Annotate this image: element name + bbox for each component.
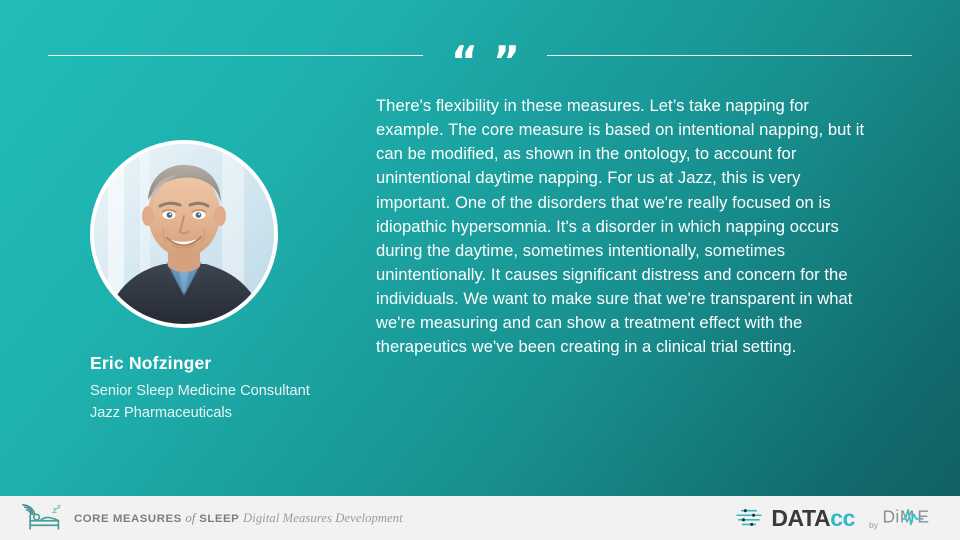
datacc-logo: DATAcc bbox=[734, 507, 855, 530]
avatar bbox=[90, 140, 278, 328]
brand-connector: of bbox=[186, 511, 196, 525]
speaker-role: Senior Sleep Medicine Consultant Jazz Ph… bbox=[90, 380, 365, 424]
sleep-bed-icon bbox=[22, 504, 62, 532]
footer-brand-right: DATAcc by D i M E bbox=[734, 506, 938, 530]
footer-bar: CORE MEASURES of SLEEP Digital Measures … bbox=[0, 496, 960, 540]
svg-text:E: E bbox=[917, 507, 928, 527]
datacc-cc: cc bbox=[830, 505, 855, 531]
speaker-role-line2: Jazz Pharmaceuticals bbox=[90, 402, 365, 424]
svg-text:D: D bbox=[883, 507, 895, 527]
footer-brand-text: CORE MEASURES of SLEEP Digital Measures … bbox=[74, 511, 403, 526]
svg-text:i: i bbox=[895, 507, 898, 527]
quote-text: There's flexibility in these measures. L… bbox=[376, 94, 872, 360]
speaker-name: Eric Nofzinger bbox=[90, 353, 365, 375]
quote-close-icon: ” bbox=[493, 41, 519, 82]
footer-tagline: Digital Measures Development bbox=[243, 511, 403, 525]
datacc-lines-icon bbox=[734, 507, 764, 529]
speaker-role-line1: Senior Sleep Medicine Consultant bbox=[90, 380, 365, 402]
speaker-block: Eric Nofzinger Senior Sleep Medicine Con… bbox=[90, 140, 365, 424]
footer-brand-left: CORE MEASURES of SLEEP Digital Measures … bbox=[22, 504, 403, 532]
dime-by-label: by bbox=[869, 520, 878, 530]
brand-core-measures: CORE MEASURES bbox=[74, 513, 182, 525]
portrait-photo bbox=[94, 144, 274, 324]
brand-sleep: SLEEP bbox=[199, 513, 239, 525]
dime-wordmark-icon: D i M E bbox=[882, 506, 938, 528]
datacc-wordmark: DATAcc bbox=[771, 507, 855, 530]
dime-logo: by D i M E bbox=[869, 506, 938, 530]
datacc-data: DATA bbox=[771, 505, 830, 531]
divider-line-left bbox=[48, 55, 423, 56]
quote-open-icon: “ bbox=[451, 41, 477, 82]
quote-slide: “ ” bbox=[0, 0, 960, 540]
divider-line-right bbox=[547, 55, 912, 56]
quotation-marks: “ ” bbox=[451, 41, 519, 82]
quote-header-row: “ ” bbox=[0, 42, 960, 68]
